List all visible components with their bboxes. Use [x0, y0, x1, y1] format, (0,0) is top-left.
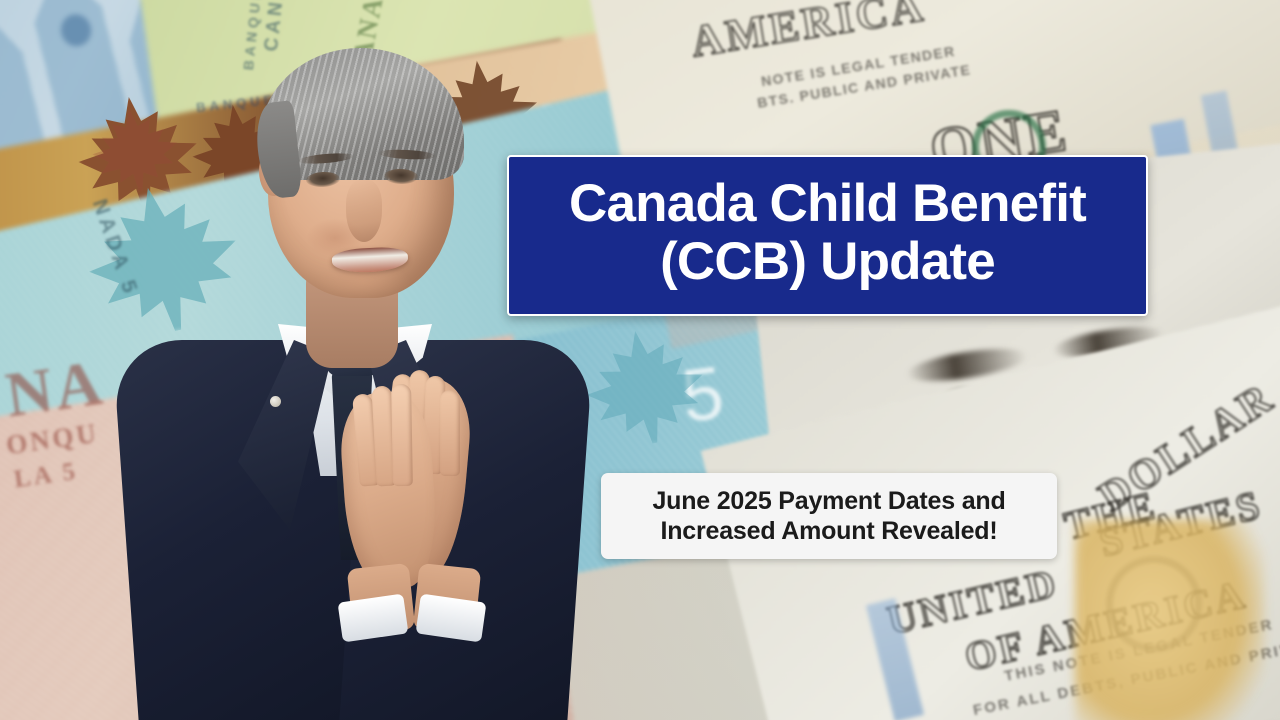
subtitle-box: June 2025 Payment Dates and Increased Am…	[601, 473, 1057, 559]
banknote-gold-100-blob	[1075, 520, 1265, 720]
hands-namaste-gesture	[330, 370, 530, 640]
title-banner: Canada Child Benefit (CCB) Update	[507, 155, 1148, 316]
title-line-2: (CCB) Update	[660, 233, 995, 290]
subtitle-line-2: Increased Amount Revealed!	[660, 516, 997, 547]
chin	[316, 264, 410, 300]
title-line-1: Canada Child Benefit	[569, 175, 1086, 232]
lapel-pin-icon	[270, 396, 281, 407]
thumbnail-image: CANADA DEPUTY GOVERNOR DEPUTY GOVERNOR 1…	[0, 0, 1280, 720]
finger	[391, 384, 413, 486]
finger	[440, 390, 460, 476]
shirt-cuff-left	[338, 594, 409, 643]
person-photo	[120, 40, 580, 720]
shirt-cuff-right	[416, 594, 487, 643]
subtitle-line-1: June 2025 Payment Dates and	[652, 486, 1005, 517]
